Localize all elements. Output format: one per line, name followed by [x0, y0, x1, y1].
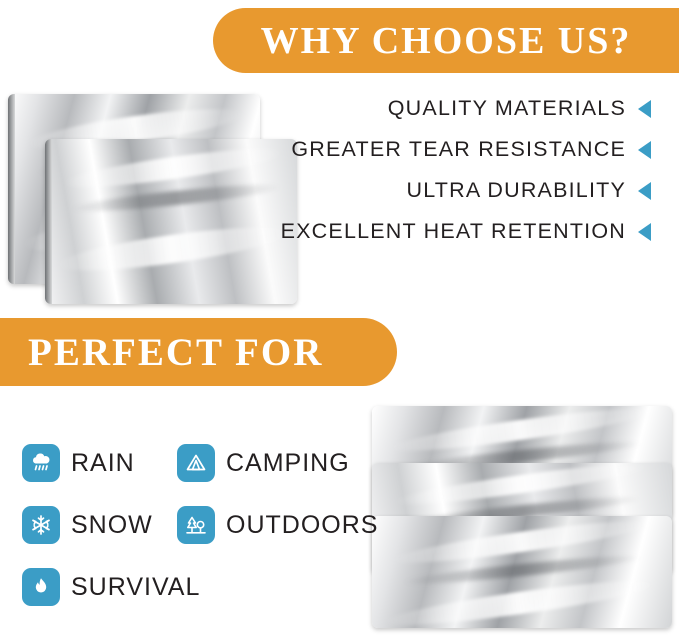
- feature-label: GREATER TEAR RESISTANCE: [291, 137, 626, 162]
- tent-icon: [177, 444, 215, 482]
- feature-item-greater-tear-resistance: GREATER TEAR RESISTANCE: [291, 137, 651, 162]
- perfect-for-item-outdoors: OUTDOORS: [177, 506, 378, 544]
- perfect-for-item-camping: CAMPING: [177, 444, 350, 482]
- perfect-for-item-rain: RAIN: [22, 444, 177, 482]
- perfect-for-list: RAIN CAMPING: [22, 432, 382, 618]
- perfect-for-label: CAMPING: [226, 449, 350, 478]
- why-choose-us-banner: WHY CHOOSE US?: [213, 8, 679, 73]
- emergency-blanket-pouch-stack-3: [372, 516, 672, 628]
- perfect-for-title: PERFECT FOR: [28, 330, 323, 375]
- perfect-for-banner: PERFECT FOR: [0, 318, 397, 386]
- perfect-for-label: SURVIVAL: [71, 573, 200, 602]
- triangle-left-icon: [638, 141, 651, 159]
- perfect-for-row: SNOW OUTDOORS: [22, 494, 382, 556]
- trees-icon: [177, 506, 215, 544]
- snowflake-icon: [22, 506, 60, 544]
- feature-label: EXCELLENT HEAT RETENTION: [281, 219, 626, 244]
- feature-label: QUALITY MATERIALS: [388, 96, 626, 121]
- pouch-edge: [45, 139, 52, 304]
- feature-label: ULTRA DURABILITY: [406, 178, 626, 203]
- rain-cloud-icon: [22, 444, 60, 482]
- perfect-for-item-survival: SURVIVAL: [22, 568, 177, 606]
- perfect-for-label: SNOW: [71, 511, 153, 540]
- flame-icon: [22, 568, 60, 606]
- triangle-left-icon: [638, 182, 651, 200]
- perfect-for-label: RAIN: [71, 449, 135, 478]
- feature-item-ultra-durability: ULTRA DURABILITY: [406, 178, 651, 203]
- feature-item-excellent-heat-retention: EXCELLENT HEAT RETENTION: [281, 219, 651, 244]
- perfect-for-label: OUTDOORS: [226, 511, 378, 540]
- triangle-left-icon: [638, 100, 651, 118]
- why-choose-us-title: WHY CHOOSE US?: [261, 19, 632, 63]
- feature-item-quality-materials: QUALITY MATERIALS: [388, 96, 651, 121]
- triangle-left-icon: [638, 223, 651, 241]
- pouch-edge: [8, 94, 15, 284]
- perfect-for-row: RAIN CAMPING: [22, 432, 382, 494]
- feature-list: QUALITY MATERIALS GREATER TEAR RESISTANC…: [251, 96, 651, 244]
- perfect-for-item-snow: SNOW: [22, 506, 177, 544]
- perfect-for-row: SURVIVAL: [22, 556, 382, 618]
